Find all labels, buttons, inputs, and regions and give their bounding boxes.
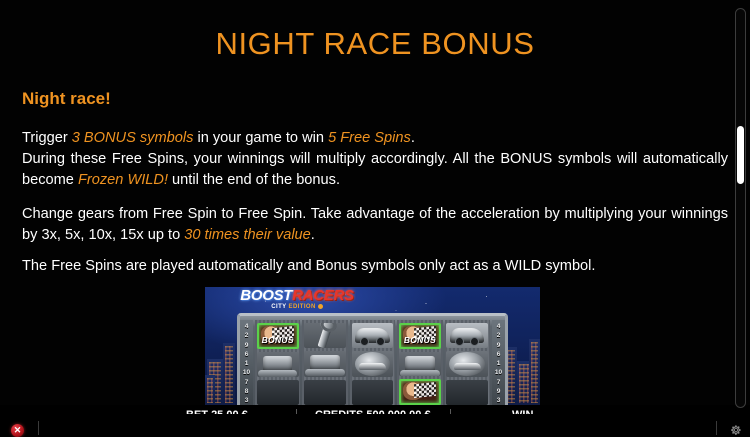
symbol-partial bbox=[446, 380, 488, 405]
gear-icon bbox=[729, 423, 743, 437]
payline-number: 4 bbox=[245, 322, 249, 331]
game-logo-title: BOOSTRACERS bbox=[227, 288, 367, 303]
payline-number: 1 bbox=[497, 359, 501, 368]
car-icon bbox=[355, 328, 389, 343]
engine-icon bbox=[405, 356, 434, 373]
slot-cabinet: 4 2 9 6 1 10 7 8 3 BONUS bbox=[237, 313, 508, 405]
logo-word-edition: EDITION bbox=[289, 304, 316, 310]
close-icon: ✕ bbox=[14, 426, 22, 435]
symbol-partial bbox=[352, 380, 394, 405]
car-oval-icon bbox=[449, 352, 485, 376]
payline-number: 6 bbox=[497, 350, 501, 359]
symbol-car bbox=[352, 323, 394, 348]
night-race-bonus-page: NIGHT RACE BONUS Night race! Trigger 3 B… bbox=[0, 0, 750, 437]
symbol-car-oval bbox=[446, 351, 488, 376]
payline-number: 3 bbox=[245, 396, 249, 405]
payline-number: 9 bbox=[497, 341, 501, 350]
symbol-car bbox=[446, 323, 488, 348]
scrollbar-thumb[interactable] bbox=[737, 126, 744, 184]
payline-number: 9 bbox=[497, 387, 501, 396]
payline-number: 6 bbox=[245, 350, 249, 359]
payline-number: 7 bbox=[245, 378, 249, 387]
payline-numbers-right: 4 2 9 6 1 10 7 9 3 bbox=[492, 320, 505, 405]
engine-icon bbox=[310, 355, 339, 372]
paragraph-during-free-spins: During these Free Spins, your winnings w… bbox=[22, 149, 728, 191]
paragraph-auto-play: The Free Spins are played automatically … bbox=[22, 256, 728, 277]
payline-number: 4 bbox=[497, 322, 501, 331]
symbol-engine bbox=[399, 352, 441, 377]
paragraph-trigger: Trigger 3 BONUS symbols in your game to … bbox=[22, 128, 728, 149]
toolbar-divider-right bbox=[716, 421, 717, 435]
text-trigger-mid: in your game to win bbox=[193, 130, 328, 146]
settings-button[interactable] bbox=[729, 423, 743, 437]
reel-1: BONUS bbox=[255, 320, 300, 405]
paragraph-block-auto-play: The Free Spins are played automatically … bbox=[22, 256, 728, 277]
paragraph-block-change-gears: Change gears from Free Spin to Free Spin… bbox=[22, 204, 728, 246]
symbol-bonus: BONUS bbox=[399, 323, 441, 349]
payline-number: 9 bbox=[245, 341, 249, 350]
logo-word-racers: RACERS bbox=[292, 287, 354, 304]
payline-number: 10 bbox=[243, 368, 250, 377]
payline-number: 10 bbox=[495, 368, 502, 377]
symbol-bonus-label: BONUS bbox=[259, 335, 297, 345]
symbol-engine bbox=[257, 352, 299, 377]
reel-4: BONUS bbox=[397, 320, 442, 405]
payline-number: 2 bbox=[245, 331, 249, 340]
symbol-bonus-partial bbox=[399, 379, 441, 405]
reel-2 bbox=[302, 320, 347, 405]
text-during-suffix: until the end of the bonus. bbox=[168, 172, 340, 188]
vertical-scrollbar[interactable] bbox=[735, 8, 746, 408]
highlight-30-times-value: 30 times their value bbox=[184, 227, 311, 243]
symbol-wrench bbox=[304, 323, 346, 348]
close-button[interactable]: ✕ bbox=[11, 424, 24, 437]
reel-3 bbox=[350, 320, 395, 405]
text-trigger-suffix: . bbox=[411, 130, 415, 146]
symbol-bonus-label: BONUS bbox=[401, 335, 439, 345]
payline-numbers-left: 4 2 9 6 1 10 7 8 3 bbox=[240, 320, 253, 405]
car-oval-icon bbox=[355, 352, 391, 376]
payline-number: 8 bbox=[245, 387, 249, 396]
game-logo-subtitle: CITY EDITION bbox=[227, 304, 367, 310]
checkered-flag-icon bbox=[414, 382, 436, 398]
symbol-bonus: BONUS bbox=[257, 323, 299, 349]
bottom-toolbar bbox=[0, 414, 750, 437]
text-trigger-prefix: Trigger bbox=[22, 130, 72, 146]
wrench-icon bbox=[318, 323, 333, 348]
page-title: NIGHT RACE BONUS bbox=[0, 26, 750, 62]
engine-icon bbox=[263, 356, 292, 373]
symbol-partial bbox=[304, 380, 346, 405]
paragraph-block-trigger: Trigger 3 BONUS symbols in your game to … bbox=[22, 128, 728, 191]
reel-5 bbox=[445, 320, 490, 405]
game-preview-image: BOOSTRACERS CITY EDITION 4 2 9 6 1 10 7 … bbox=[205, 287, 540, 405]
logo-dot-icon bbox=[318, 304, 323, 309]
payline-number: 7 bbox=[497, 378, 501, 387]
section-heading-night-race: Night race! bbox=[22, 89, 111, 109]
slot-reels: BONUS bbox=[253, 320, 492, 405]
game-logo: BOOSTRACERS CITY EDITION bbox=[227, 288, 367, 314]
text-gears-prefix: Change gears from Free Spin to Free Spin… bbox=[22, 206, 728, 243]
text-gears-suffix: . bbox=[311, 227, 315, 243]
highlight-frozen-wild: Frozen WILD! bbox=[78, 172, 168, 188]
payline-number: 3 bbox=[497, 396, 501, 405]
car-icon bbox=[450, 328, 484, 343]
logo-word-city: CITY bbox=[271, 304, 286, 310]
symbol-engine bbox=[304, 351, 346, 376]
symbol-car-oval bbox=[352, 351, 394, 376]
toolbar-divider-left bbox=[38, 421, 39, 435]
highlight-5-free-spins: 5 Free Spins bbox=[328, 130, 411, 146]
logo-word-boost: BOOST bbox=[240, 287, 292, 304]
paragraph-change-gears: Change gears from Free Spin to Free Spin… bbox=[22, 204, 728, 246]
highlight-3-bonus-symbols: 3 BONUS symbols bbox=[72, 130, 194, 146]
payline-number: 1 bbox=[245, 359, 249, 368]
symbol-partial bbox=[257, 380, 299, 405]
payline-number: 2 bbox=[497, 331, 501, 340]
